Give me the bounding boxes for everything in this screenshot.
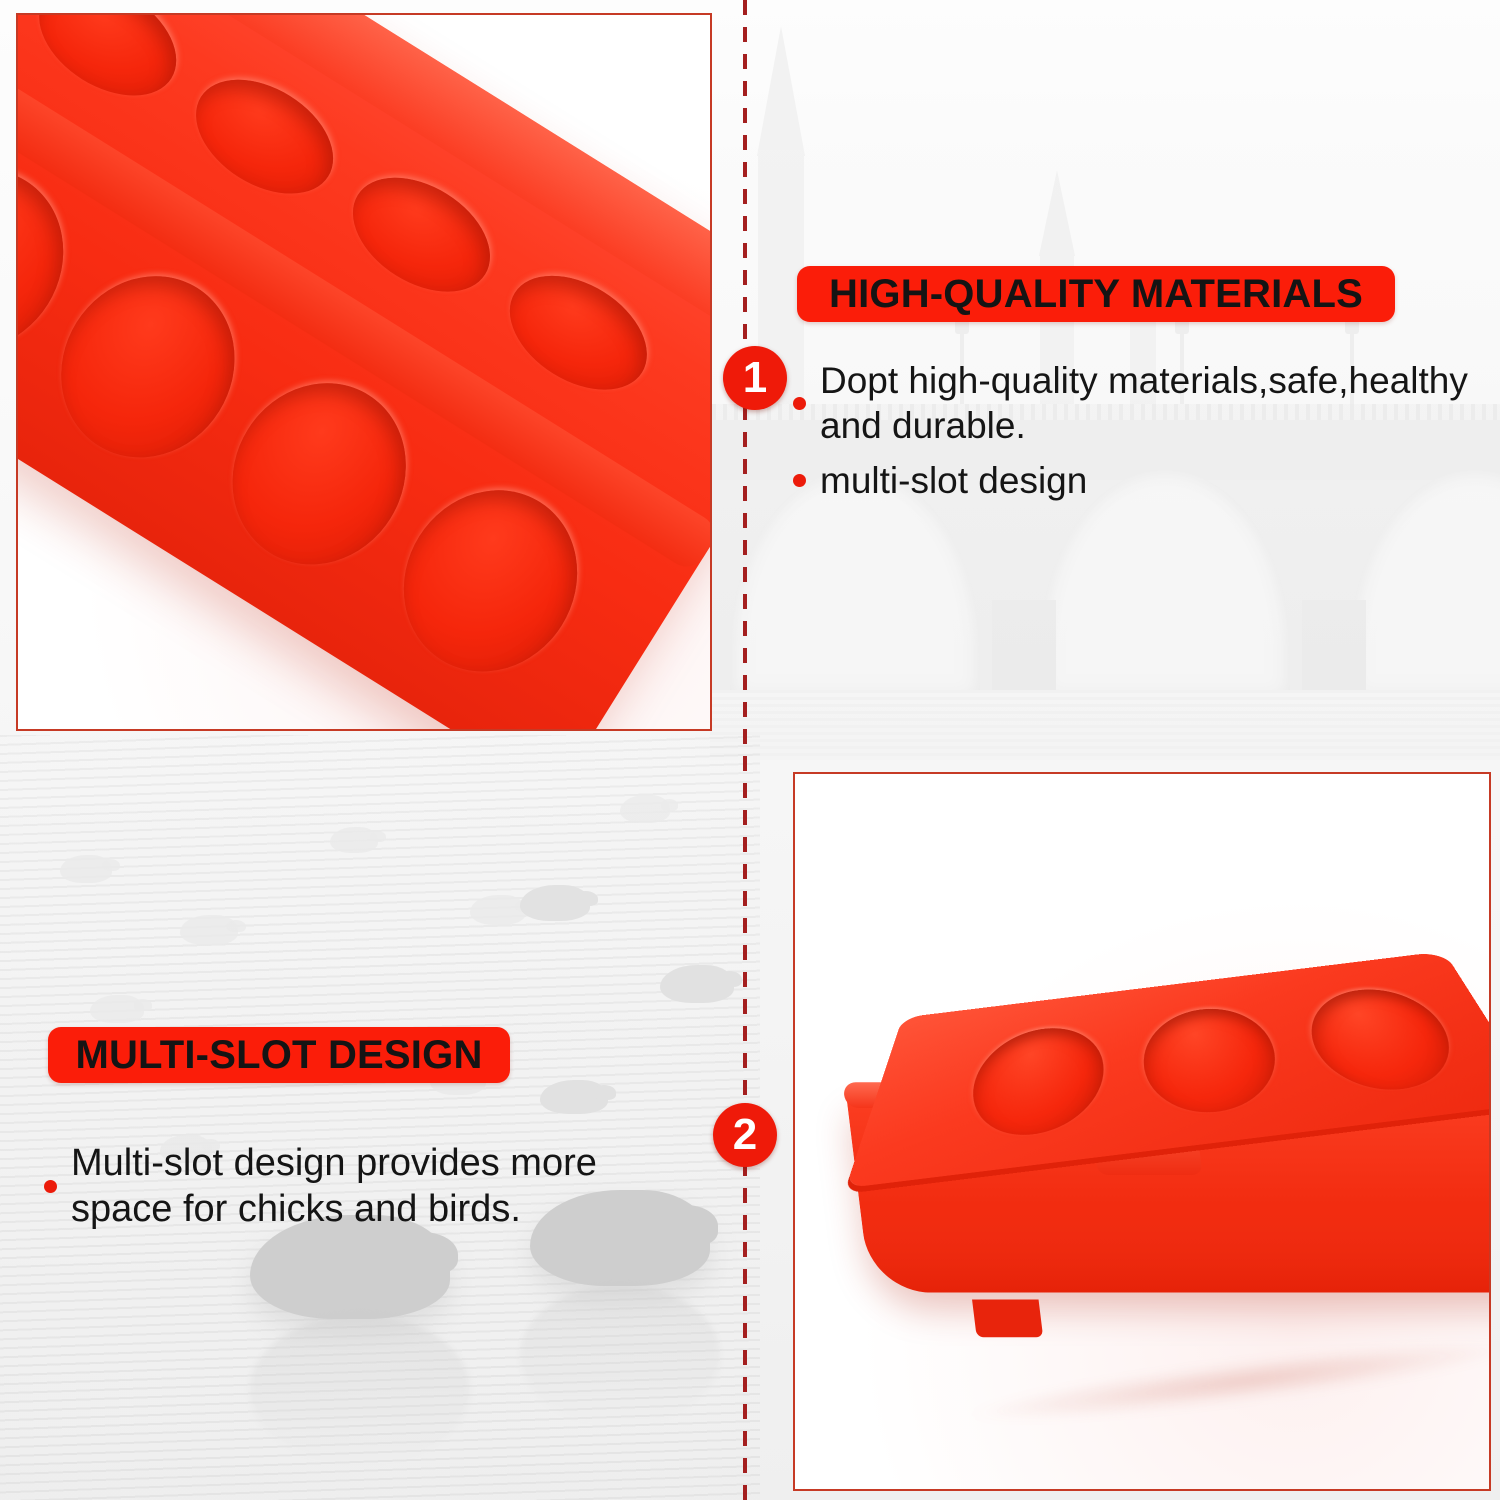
bird-icon [660,965,734,1003]
feeder-slot [963,1021,1104,1142]
feature-heading-1: HIGH-QUALITY MATERIALS [797,266,1395,322]
infographic-page: 1 HIGH-QUALITY MATERIALS Dopt high-quali… [0,0,1500,1500]
bird-icon [540,1080,608,1114]
bullet-text: multi-slot design [820,458,1087,503]
bullet-item: multi-slot design [793,458,1473,503]
feature-bullets-2: Multi-slot design provides more space fo… [44,1140,694,1243]
feeder-foot [972,1300,1043,1338]
feature-heading-2: MULTI-SLOT DESIGN [48,1027,510,1083]
duck-reflection [250,1315,470,1465]
bridge-pier [992,600,1056,704]
feeder-box [809,805,1491,1357]
bird-icon [180,915,238,945]
feeder-slot [1141,1002,1288,1120]
vertical-dashed-divider-line [743,0,747,1500]
bird-icon [60,855,112,883]
feature-badge-2: 2 [713,1103,777,1167]
bullet-text: Multi-slot design provides more space fo… [71,1140,694,1233]
bird-icon [90,995,144,1023]
bullet-item: Dopt high-quality materials,safe,healthy… [793,358,1473,448]
bird-icon [520,885,590,921]
bullet-item: Multi-slot design provides more space fo… [44,1140,694,1233]
feeder-slot [332,154,510,315]
bullet-dot-icon [44,1180,57,1193]
background-waterfowl-river [0,735,760,1500]
bullet-dot-icon [793,474,806,487]
bullet-text: Dopt high-quality materials,safe,healthy… [820,358,1473,448]
feature-bullets-1: Dopt high-quality materials,safe,healthy… [793,358,1473,513]
feeder-slot [489,252,667,413]
bridge-pier [1302,600,1366,704]
product-photo-feeder-closeup-diagonal [16,13,712,731]
feeder-slot [1298,983,1472,1098]
feeder-slot [176,56,354,217]
bridge-spire-icon [757,26,805,156]
bridge-spire-icon [1039,170,1075,256]
bird-icon [620,795,670,823]
bird-icon [330,827,378,853]
bird-icon [470,895,526,925]
feeder-slot [19,13,197,119]
feature-badge-1: 1 [723,346,787,410]
feeder-slot [16,13,40,21]
bullet-dot-icon [793,397,806,410]
product-photo-feeder-angled-view [793,772,1491,1491]
duck-reflection [520,1285,720,1425]
bridge-river-water [710,690,1500,760]
